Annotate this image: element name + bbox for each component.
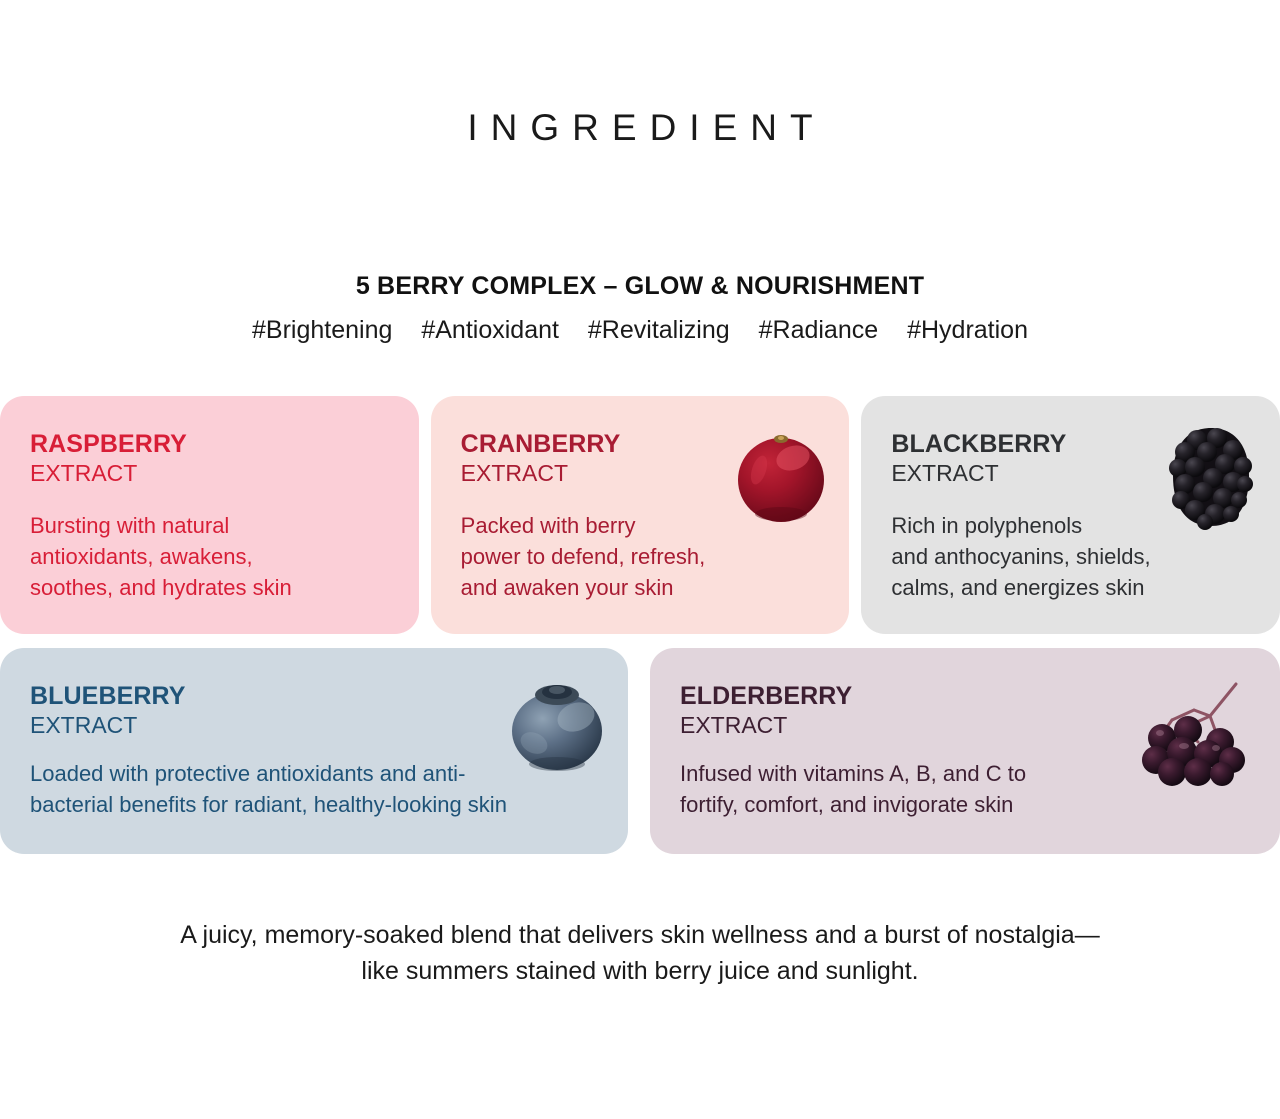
card-description-cranberry: Packed with berry power to defend, refre… (461, 510, 850, 604)
hashtag-list: #Brightening #Antioxidant #Revitalizing … (0, 316, 1280, 345)
card-title-blackberry: BLACKBERRY (891, 430, 1280, 458)
ingredient-card-blueberry: BLUEBERRY EXTRACT Loaded with protective… (0, 648, 628, 854)
card-description-raspberry: Bursting with natural antioxidants, awak… (30, 510, 419, 604)
hashtag-brightening: #Brightening (252, 316, 392, 345)
card-title-cranberry: CRANBERRY (461, 430, 850, 458)
ingredient-card-blackberry: BLACKBERRY EXTRACT Rich in polyphenols a… (861, 396, 1280, 634)
page-title: INGREDIENT (0, 108, 1280, 149)
hashtag-hydration: #Hydration (907, 316, 1028, 345)
ingredient-card-cranberry: CRANBERRY EXTRACT Packed with berry powe… (431, 396, 850, 634)
ingredient-card-elderberry: ELDERBERRY EXTRACT Infused with vitamins… (650, 648, 1280, 854)
hashtag-radiance: #Radiance (759, 316, 879, 345)
card-subtitle-raspberry: EXTRACT (30, 460, 419, 488)
card-description-blueberry: Loaded with protective antioxidants and … (30, 758, 628, 820)
card-subtitle-cranberry: EXTRACT (461, 460, 850, 488)
ingredient-cards-row-top: RASPBERRY EXTRACT Bursting with natural … (0, 396, 1280, 634)
footer-note: A juicy, memory-soaked blend that delive… (60, 918, 1220, 989)
card-subtitle-blackberry: EXTRACT (891, 460, 1280, 488)
card-title-raspberry: RASPBERRY (30, 430, 419, 458)
complex-title: 5 BERRY COMPLEX – GLOW & NOURISHMENT (0, 272, 1280, 301)
card-description-elderberry: Infused with vitamins A, B, and C to for… (680, 758, 1280, 820)
card-subtitle-blueberry: EXTRACT (30, 712, 628, 740)
card-title-blueberry: BLUEBERRY (30, 682, 628, 710)
hashtag-revitalizing: #Revitalizing (588, 316, 730, 345)
ingredient-card-raspberry: RASPBERRY EXTRACT Bursting with natural … (0, 396, 419, 634)
card-description-blackberry: Rich in polyphenols and anthocyanins, sh… (891, 510, 1280, 604)
card-title-elderberry: ELDERBERRY (680, 682, 1280, 710)
card-subtitle-elderberry: EXTRACT (680, 712, 1280, 740)
hashtag-antioxidant: #Antioxidant (421, 316, 559, 345)
ingredient-cards-row-bottom: BLUEBERRY EXTRACT Loaded with protective… (0, 648, 1280, 854)
ingredient-infographic: INGREDIENT 5 BERRY COMPLEX – GLOW & NOUR… (0, 0, 1280, 1119)
